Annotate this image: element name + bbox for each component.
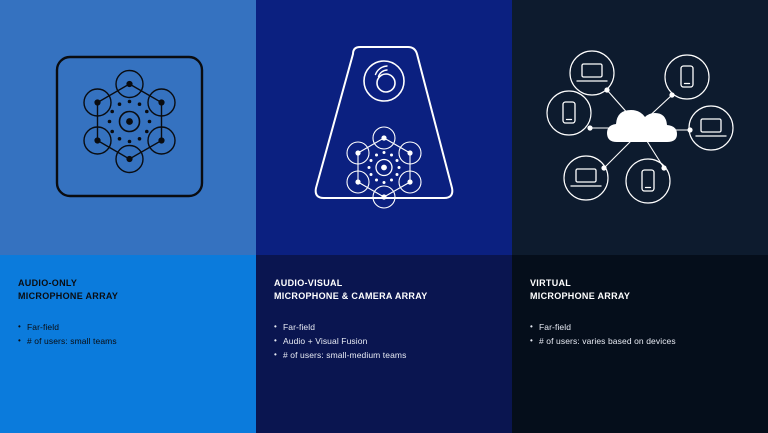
bullet-item: Far-field (274, 320, 494, 334)
panel-audio-visual-text: AUDIO-VISUAL MICROPHONE & CAMERA ARRAY F… (256, 255, 512, 433)
panel-audio-visual-title: AUDIO-VISUAL MICROPHONE & CAMERA ARRAY (274, 277, 494, 303)
panel-audio-visual-artwork (256, 0, 512, 255)
mic-dot-group (94, 81, 164, 162)
panel-virtual-title: VIRTUAL MICROPHONE ARRAY (530, 277, 750, 303)
device-body-outline (57, 57, 202, 196)
panel-audio-only-title: AUDIO-ONLY MICROPHONE ARRAY (18, 277, 238, 303)
panel-virtual-text: VIRTUAL MICROPHONE ARRAY Far-field # of … (512, 255, 768, 433)
cloud-connected-devices-icon (512, 0, 768, 255)
trapezoid-camera-mic-array-icon (256, 0, 512, 255)
bullet-item: # of users: small-medium teams (274, 348, 494, 362)
comparison-infographic: AUDIO-ONLY MICROPHONE ARRAY Far-field # … (0, 0, 768, 433)
bullet-item: Audio + Visual Fusion (274, 334, 494, 348)
bullet-item: Far-field (530, 320, 750, 334)
laptop-icon (577, 64, 607, 81)
panel-audio-visual-bullets: Far-field Audio + Visual Fusion # of use… (274, 320, 494, 362)
panel-virtual-artwork (512, 0, 768, 255)
panel-audio-only-text: AUDIO-ONLY MICROPHONE ARRAY Far-field # … (0, 255, 256, 433)
phone-icon (681, 66, 693, 87)
cloud-icon (607, 110, 677, 142)
panel-virtual[interactable]: VIRTUAL MICROPHONE ARRAY Far-field # of … (512, 0, 768, 433)
phone-icon (563, 102, 575, 123)
panel-audio-only-artwork (0, 0, 256, 255)
laptop-icon (696, 119, 726, 136)
rounded-square-mic-array-icon (0, 0, 256, 255)
laptop-icon (571, 169, 601, 186)
panel-audio-only-bullets: Far-field # of users: small teams (18, 320, 238, 348)
bullet-item: # of users: varies based on devices (530, 334, 750, 348)
bullet-item: # of users: small teams (18, 334, 238, 348)
bullet-item: Far-field (18, 320, 238, 334)
panel-virtual-bullets: Far-field # of users: varies based on de… (530, 320, 750, 348)
panel-audio-only[interactable]: AUDIO-ONLY MICROPHONE ARRAY Far-field # … (0, 0, 256, 433)
camera-lens-inner (377, 74, 395, 92)
panel-audio-visual[interactable]: AUDIO-VISUAL MICROPHONE & CAMERA ARRAY F… (256, 0, 512, 433)
mic-dot-group (355, 135, 412, 199)
phone-icon (642, 170, 654, 191)
